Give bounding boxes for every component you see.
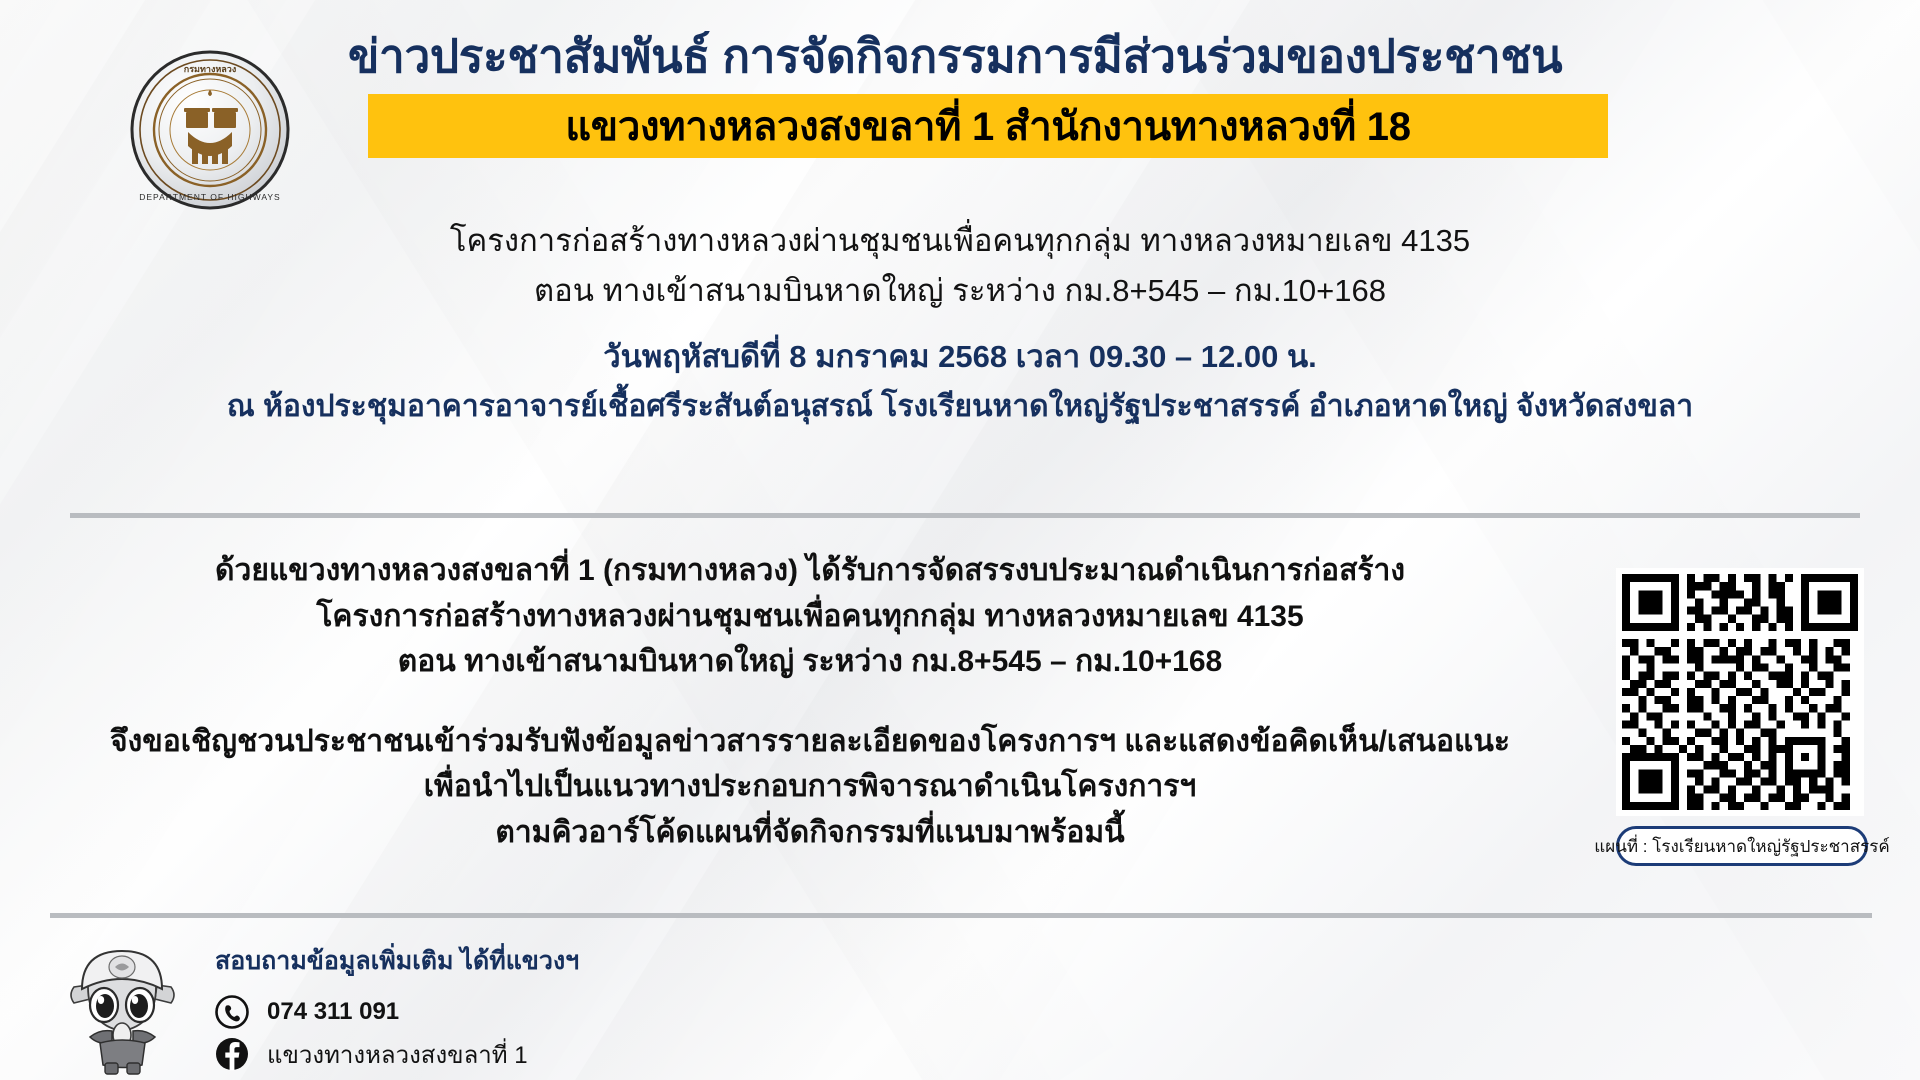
paragraph2-line2: เพื่อนำไปเป็นแนวทางประกอบการพิจารณาดำเนิ… — [60, 764, 1560, 810]
office-banner-text: แขวงทางหลวงสงขลาที่ 1 สำนักงานทางหลวงที่… — [565, 94, 1410, 158]
footer-heading: สอบถามข้อมูลเพิ่มเติม ได้ที่แขวงฯ — [215, 941, 579, 981]
paragraph-spacer — [60, 685, 1560, 719]
paragraph2-line3: ตามคิวอาร์โค้ดแผนที่จัดกิจกรรมที่แนบมาพร… — [60, 810, 1560, 856]
body-block: ด้วยแขวงทางหลวงสงขลาที่ 1 (กรมทางหลวง) ไ… — [60, 548, 1560, 856]
highways-elephant-mascot-icon — [60, 935, 185, 1075]
paragraph2-line1: จึงขอเชิญชวนประชาชนเข้าร่วมรับฟังข้อมูลข… — [60, 719, 1560, 765]
footer-phone-number[interactable]: 074 311 091 — [267, 998, 399, 1026]
intro-block: โครงการก่อสร้างทางหลวงผ่านชุมชนเพื่อคนทุ… — [0, 200, 1920, 431]
page-title: ข่าวประชาสัมพันธ์ การจัดกิจกรรมการมีส่วน… — [300, 28, 1780, 86]
footer-phone-row: 074 311 091 — [215, 991, 579, 1033]
event-venue: ณ ห้องประชุมอาคารอาจารย์เชื้อศรีระสันต์อ… — [0, 383, 1920, 432]
event-datetime: วันพฤหัสบดีที่ 8 มกราคม 2568 เวลา 09.30 … — [0, 332, 1920, 382]
facebook-icon — [215, 1037, 249, 1071]
svg-text:กรมทางหลวง: กรมทางหลวง — [184, 64, 237, 74]
department-of-highways-seal-icon: กรมทางหลวง DEPARTMENT OF HIGHWAYS — [130, 50, 290, 210]
footer-contact-block: สอบถามข้อมูลเพิ่มเติม ได้ที่แขวงฯ 074 31… — [215, 941, 579, 1075]
poster-canvas: กรมทางหลวง DEPARTMENT OF HIGHWAYS ข่าวปร… — [0, 0, 1920, 1080]
qr-section: แผนที่ : โรงเรียนหาดใหญ่รัฐประชาสรรค์ — [1616, 568, 1868, 866]
divider-bottom — [50, 913, 1872, 918]
phone-icon — [215, 995, 249, 1029]
office-banner: แขวงทางหลวงสงขลาที่ 1 สำนักงานทางหลวงที่… — [368, 94, 1608, 158]
qr-code-icon[interactable] — [1616, 568, 1864, 816]
qr-caption-text: แผนที่ : โรงเรียนหาดใหญ่รัฐประชาสรรค์ — [1594, 833, 1889, 860]
qr-caption-pill: แผนที่ : โรงเรียนหาดใหญ่รัฐประชาสรรค์ — [1616, 826, 1868, 866]
poster-footer: สอบถามข้อมูลเพิ่มเติม ได้ที่แขวงฯ 074 31… — [60, 935, 960, 1080]
footer-facebook-page[interactable]: แขวงทางหลวงสงขลาที่ 1 — [267, 1035, 528, 1074]
paragraph1-line3: ตอน ทางเข้าสนามบินหาดใหญ่ ระหว่าง กม.8+5… — [60, 639, 1560, 685]
divider-top — [70, 513, 1860, 518]
project-name-line-1: โครงการก่อสร้างทางหลวงผ่านชุมชนเพื่อคนทุ… — [0, 216, 1920, 266]
footer-facebook-row: แขวงทางหลวงสงขลาที่ 1 — [215, 1033, 579, 1075]
project-name-line-2: ตอน ทางเข้าสนามบินหาดใหญ่ ระหว่าง กม.8+5… — [0, 266, 1920, 316]
paragraph1-line1: ด้วยแขวงทางหลวงสงขลาที่ 1 (กรมทางหลวง) ไ… — [60, 548, 1560, 594]
paragraph1-line2: โครงการก่อสร้างทางหลวงผ่านชุมชนเพื่อคนทุ… — [60, 594, 1560, 640]
poster-header: กรมทางหลวง DEPARTMENT OF HIGHWAYS ข่าวปร… — [0, 28, 1920, 193]
